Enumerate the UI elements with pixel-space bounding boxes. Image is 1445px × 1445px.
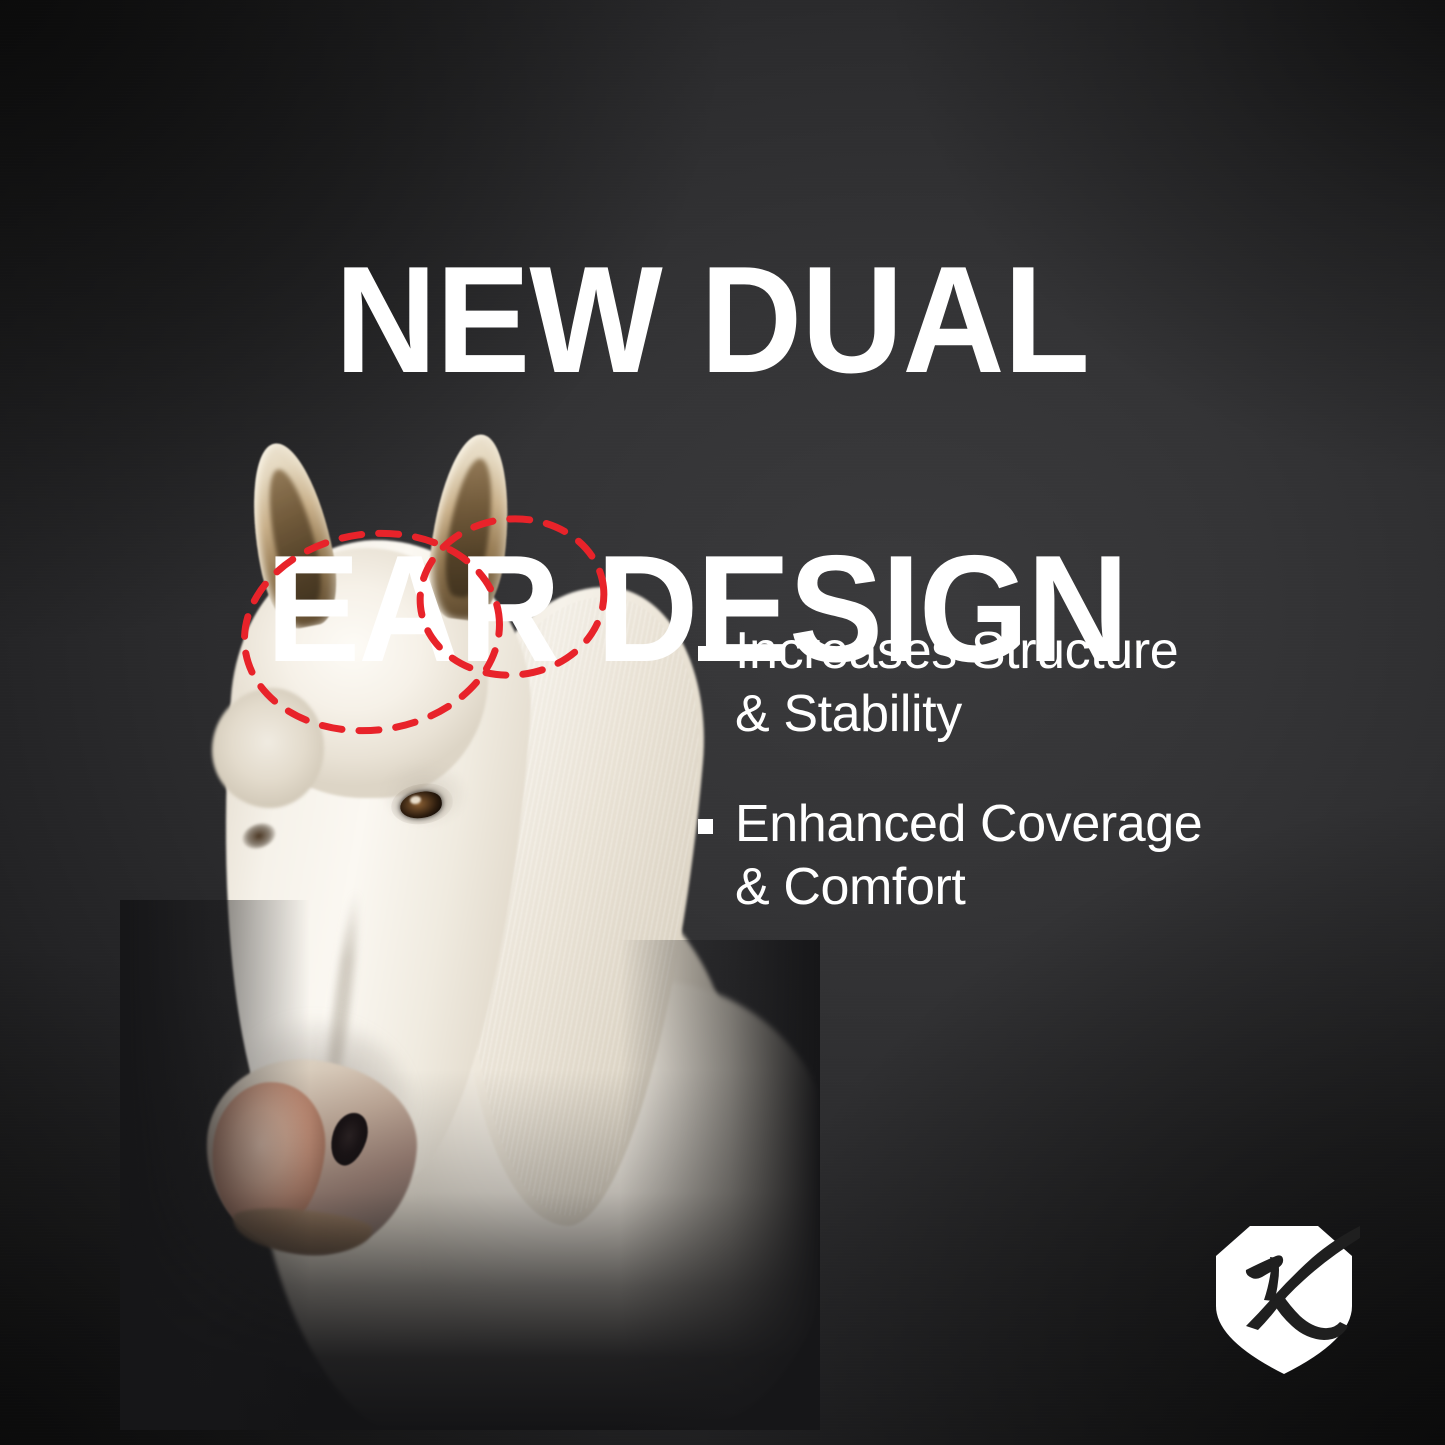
list-item: Enhanced Coverage& Comfort bbox=[698, 793, 1378, 920]
feature-text: Increases Structure& Stability bbox=[735, 620, 1178, 747]
headline-line-1: NEW DUAL bbox=[335, 248, 1159, 392]
feature-text: Enhanced Coverage& Comfort bbox=[735, 793, 1202, 920]
brand-logo bbox=[1208, 1222, 1360, 1378]
feature-line-1: Enhanced Coverage bbox=[735, 795, 1202, 853]
square-bullet-icon bbox=[698, 819, 713, 834]
feature-line-2: & Comfort bbox=[735, 858, 965, 916]
feature-line-2: & Stability bbox=[735, 685, 962, 743]
square-bullet-icon bbox=[698, 646, 713, 661]
list-item: Increases Structure& Stability bbox=[698, 620, 1378, 747]
promo-poster: NEW DUAL EAR DESIGN Increases Structure&… bbox=[0, 0, 1445, 1445]
feature-list: Increases Structure& Stability Enhanced … bbox=[698, 620, 1378, 960]
feature-line-1: Increases Structure bbox=[735, 622, 1178, 680]
